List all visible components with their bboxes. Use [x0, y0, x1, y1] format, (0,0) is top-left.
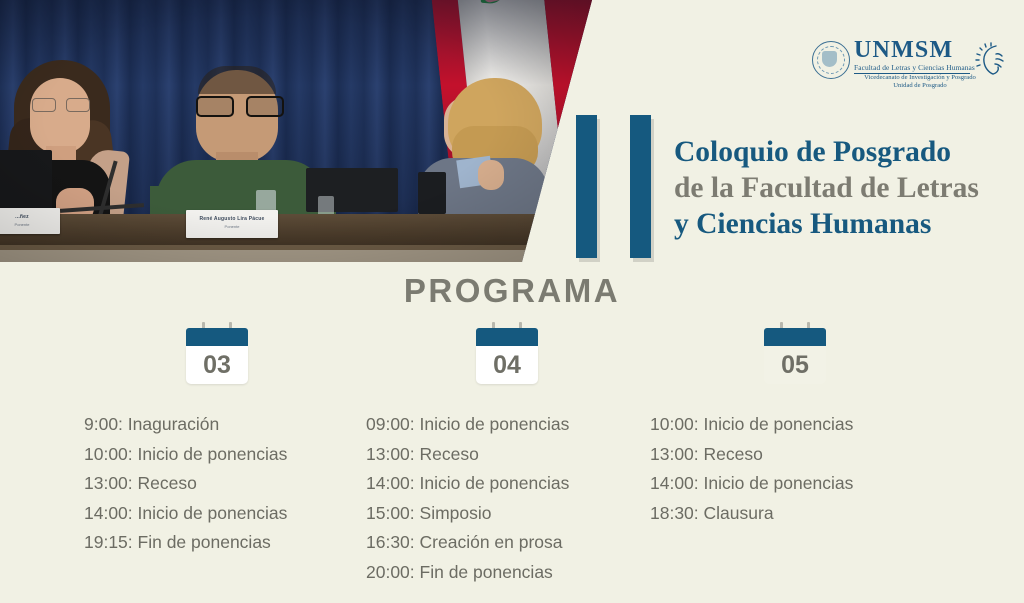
list-item: 10:00: Inicio de ponencias [84, 440, 372, 470]
calendar-day-number-03: 03 [186, 346, 248, 384]
programa-columns: 03 9:00: Inaguración 10:00: Inicio de po… [0, 322, 1024, 576]
calendar-header-03 [186, 328, 248, 346]
calendar-icon-day-04: 04 [476, 322, 538, 384]
event-title: Coloquio de Posgrado de la Facultad de L… [674, 134, 1019, 242]
event-title-line-1: Coloquio de Posgrado [674, 134, 1019, 170]
list-item: 19:15: Fin de ponencias [84, 528, 372, 558]
list-item: 20:00: Fin de ponencias [366, 558, 662, 588]
list-item: 9:00: Inaguración [84, 410, 372, 440]
photo-vignette [0, 0, 600, 262]
schedule-list-day-03: 9:00: Inaguración 10:00: Inicio de ponen… [62, 410, 372, 558]
list-item: 13:00: Receso [650, 440, 950, 470]
programa-heading: PROGRAMA [0, 272, 1024, 310]
calendar-header-05 [764, 328, 826, 346]
list-item: 13:00: Receso [84, 469, 372, 499]
unmsm-faculty-line: Facultad de Letras y Ciencias Humanas [854, 63, 970, 74]
list-item: 13:00: Receso [366, 440, 662, 470]
calendar-header-04 [476, 328, 538, 346]
list-item: 18:30: Clausura [650, 499, 950, 529]
unmsm-logo: UNMSM Facultad de Letras y Ciencias Huma… [812, 38, 1010, 90]
event-title-line-2: de la Facultad de Letras [674, 170, 1019, 206]
list-item: 14:00: Inicio de ponencias [650, 469, 950, 499]
calendar-day-number-05: 05 [764, 346, 826, 384]
conference-photo: ...ñez Ponente René Augusto Lira Pácue P… [0, 0, 600, 262]
list-item: 16:30: Creación en prosa [366, 528, 662, 558]
programa-column-day-05: 05 10:00: Inicio de ponencias 13:00: Rec… [640, 322, 950, 544]
unmsm-seal-crest [822, 51, 837, 67]
unmsm-wordmark: UNMSM [854, 38, 970, 63]
unmsm-subline-2: Unidad de Posgrado [834, 82, 1006, 90]
photo-inner: ...ñez Ponente René Augusto Lira Pácue P… [0, 0, 600, 262]
list-item: 14:00: Inicio de ponencias [366, 469, 662, 499]
accent-bar-2 [630, 115, 651, 258]
unmsm-logo-text: UNMSM Facultad de Letras y Ciencias Huma… [854, 38, 970, 74]
list-item: 14:00: Inicio de ponencias [84, 499, 372, 529]
programa-column-day-04: 04 09:00: Inicio de ponencias 13:00: Rec… [352, 322, 662, 603]
list-item: 15:00: Simposio [366, 499, 662, 529]
calendar-day-number-04: 04 [476, 346, 538, 384]
list-item: 10:00: Inicio de ponencias [650, 410, 950, 440]
list-item: 09:00: Inicio de ponencias [366, 410, 662, 440]
letras-face-sun-icon [972, 40, 1012, 80]
slide-canvas: ...ñez Ponente René Augusto Lira Pácue P… [0, 0, 1024, 576]
calendar-icon-day-05: 05 [764, 322, 826, 384]
accent-bar-1 [576, 115, 597, 258]
calendar-icon-day-03: 03 [186, 322, 248, 384]
schedule-list-day-05: 10:00: Inicio de ponencias 13:00: Receso… [640, 410, 950, 528]
programa-column-day-03: 03 9:00: Inaguración 10:00: Inicio de po… [62, 322, 372, 574]
event-title-line-3: y Ciencias Humanas [674, 206, 1019, 242]
schedule-list-day-04: 09:00: Inicio de ponencias 13:00: Receso… [352, 410, 662, 587]
